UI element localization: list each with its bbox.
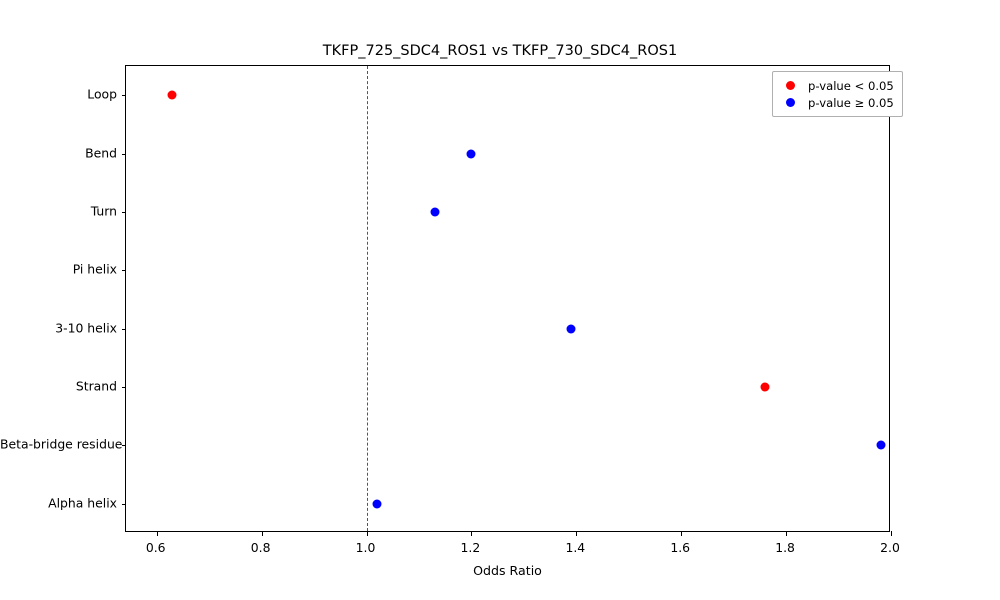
x-tick-label: 1.0 [356, 540, 376, 555]
x-tick-label: 0.8 [251, 540, 271, 555]
data-point [567, 324, 576, 333]
y-tick-mark [122, 154, 127, 155]
x-tick-label: 1.2 [461, 540, 481, 555]
data-point [430, 207, 439, 216]
y-tick-mark [122, 95, 127, 96]
y-tick-label: Turn [0, 203, 117, 218]
data-point [373, 499, 382, 508]
data-point [761, 383, 770, 392]
y-tick-label: 3-10 helix [0, 320, 117, 335]
y-tick-label: Bend [0, 145, 117, 160]
legend-swatch-red [786, 81, 795, 90]
y-tick-mark [122, 387, 127, 388]
y-tick-label: Pi helix [0, 262, 117, 277]
x-tick-mark [576, 531, 577, 536]
x-tick-mark [891, 531, 892, 536]
legend-item-nonsignificant: p-value ≥ 0.05 [780, 94, 894, 111]
y-tick-mark [122, 329, 127, 330]
x-tick-mark [681, 531, 682, 536]
data-point [168, 91, 177, 100]
y-tick-mark [122, 270, 127, 271]
x-axis-title: Odds Ratio [125, 563, 890, 578]
page-title: TKFP_725_SDC4_ROS1 vs TKFP_730_SDC4_ROS1 [0, 43, 1000, 59]
x-tick-mark [471, 531, 472, 536]
y-tick-label: Alpha helix [0, 495, 117, 510]
x-tick-label: 2.0 [880, 540, 900, 555]
legend-label-significant: p-value < 0.05 [808, 79, 894, 93]
legend-swatch-blue [786, 98, 795, 107]
y-tick-label: Strand [0, 379, 117, 394]
reference-line-or-1 [367, 66, 368, 531]
y-tick-mark [122, 212, 127, 213]
x-tick-label: 1.4 [565, 540, 585, 555]
y-tick-mark [122, 504, 127, 505]
figure-canvas: TKFP_725_SDC4_ROS1 vs TKFP_730_SDC4_ROS1… [0, 0, 1000, 600]
data-point [467, 149, 476, 158]
y-tick-label: Loop [0, 87, 117, 102]
x-tick-mark [786, 531, 787, 536]
y-tick-mark [122, 445, 127, 446]
x-tick-label: 1.6 [670, 540, 690, 555]
x-tick-label: 1.8 [775, 540, 795, 555]
plot-area [125, 65, 890, 532]
y-tick-label: Beta-bridge residue [0, 437, 117, 452]
x-tick-mark [157, 531, 158, 536]
x-tick-label: 0.6 [146, 540, 166, 555]
x-tick-mark [367, 531, 368, 536]
legend-label-nonsignificant: p-value ≥ 0.05 [808, 96, 894, 110]
data-point [876, 441, 885, 450]
x-tick-mark [262, 531, 263, 536]
legend: p-value < 0.05 p-value ≥ 0.05 [772, 71, 903, 117]
legend-item-significant: p-value < 0.05 [780, 77, 894, 94]
